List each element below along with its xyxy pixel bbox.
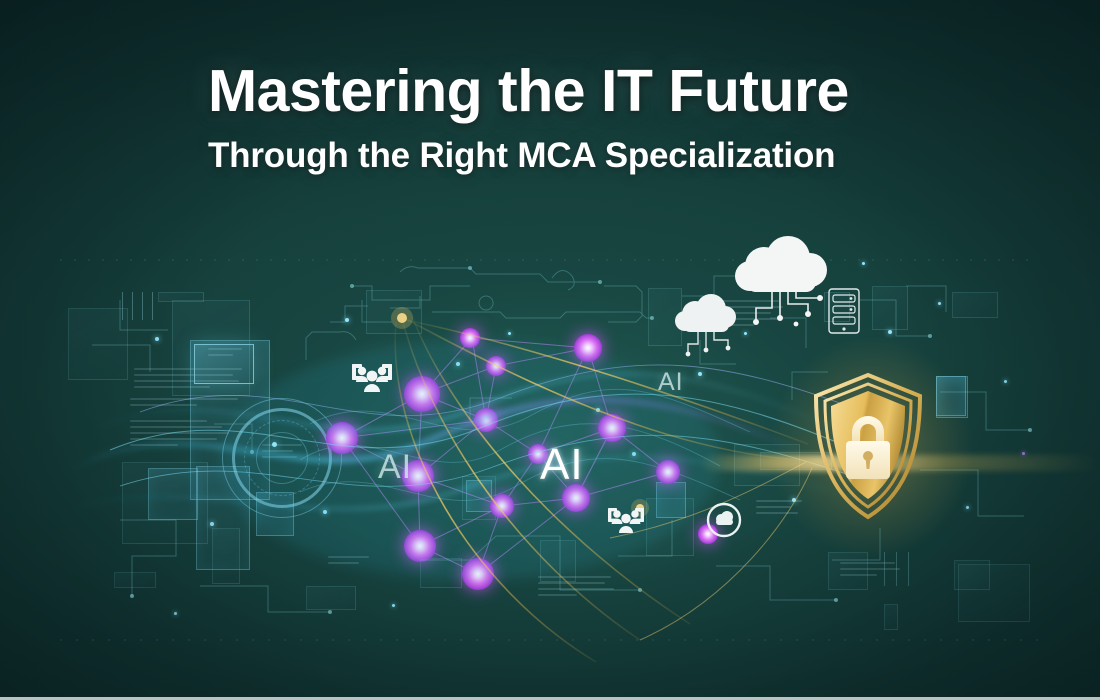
- shield-lock-icon: [810, 372, 926, 520]
- ai-label-left: AI: [378, 448, 412, 487]
- cloud-icon-small: [670, 290, 742, 366]
- headline-block: Mastering the IT Future Through the Righ…: [0, 62, 1100, 173]
- cloud-icon-large: [726, 232, 834, 342]
- cloud-circle-icon: [706, 502, 742, 538]
- page-title: Mastering the IT Future: [208, 62, 1100, 121]
- people-group-icon: [608, 506, 644, 536]
- ai-label-right: AI: [658, 368, 684, 397]
- hero-banner: AI AI AI: [0, 0, 1100, 700]
- people-group-icon: [352, 362, 392, 396]
- ai-label-center: AI: [540, 440, 584, 490]
- page-subtitle: Through the Right MCA Specialization: [208, 138, 1100, 173]
- server-rack-icon: [828, 288, 860, 334]
